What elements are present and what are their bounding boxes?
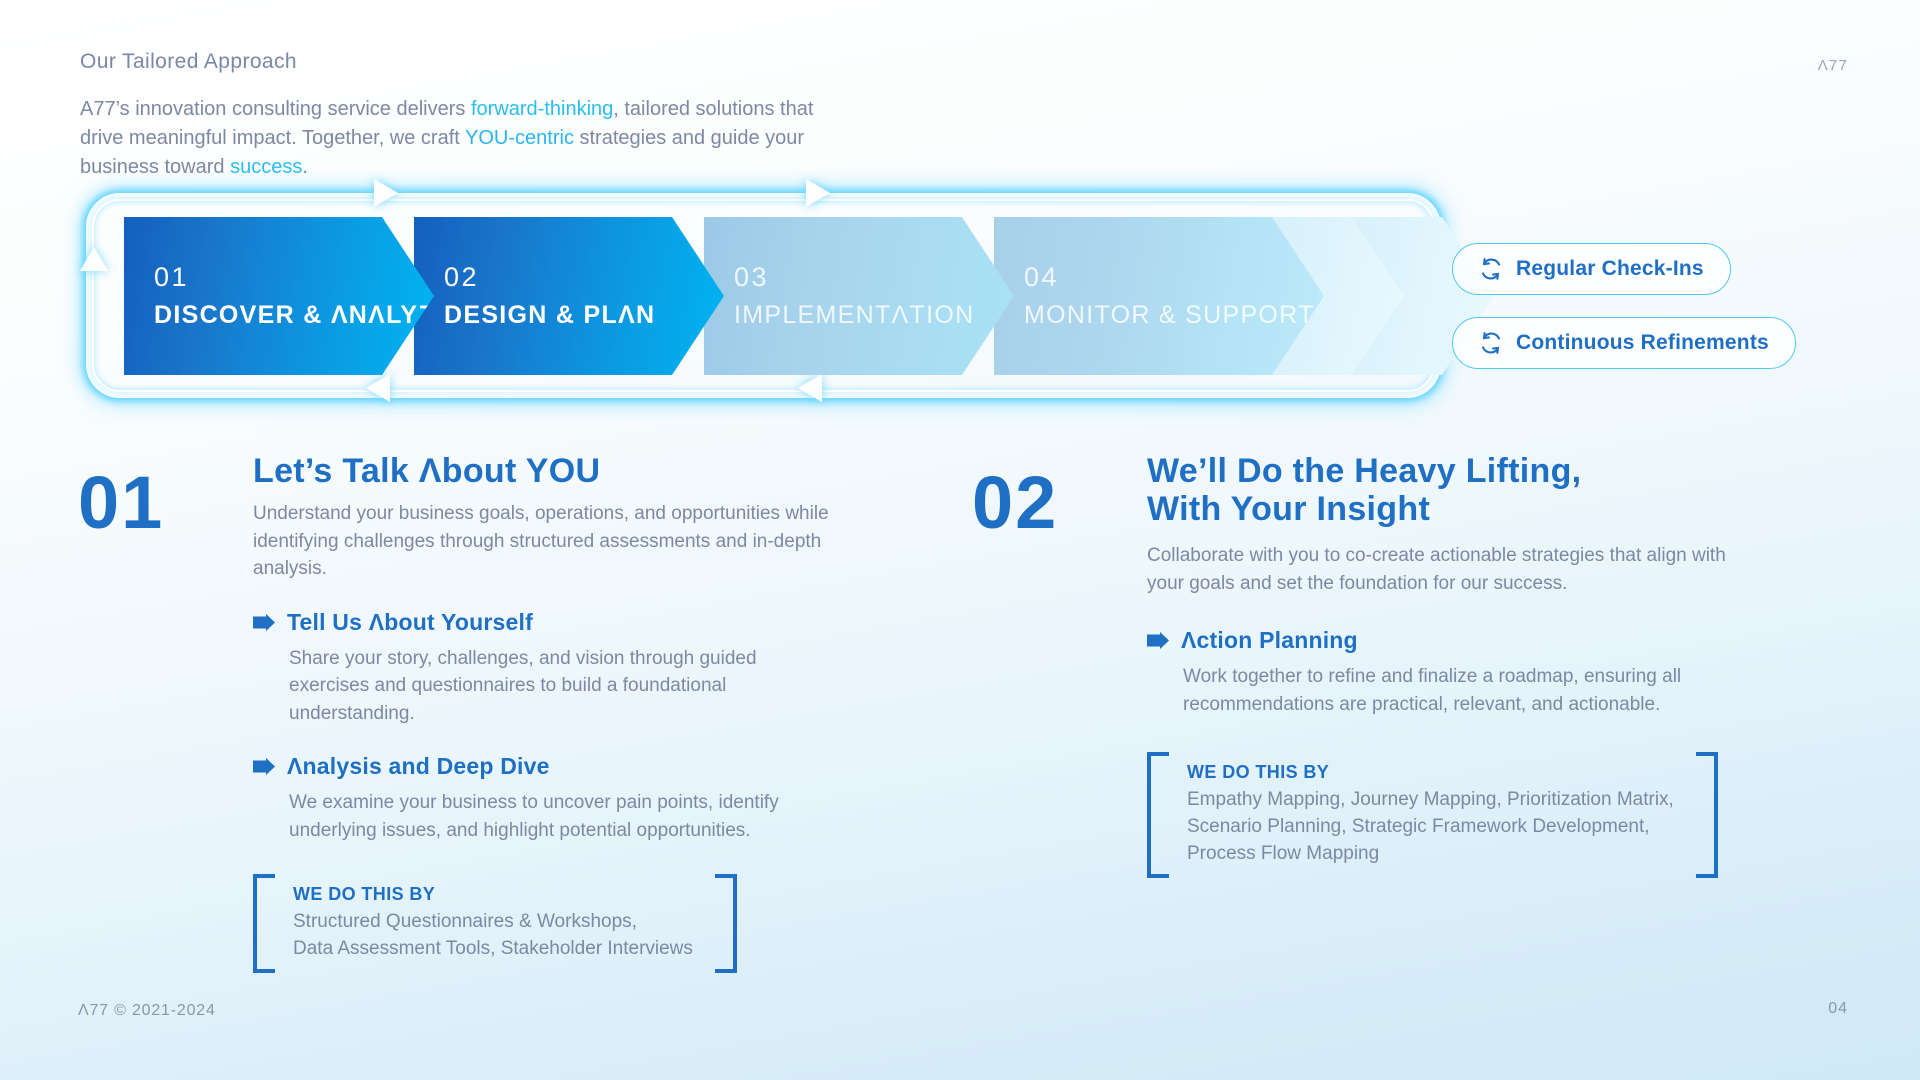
column-01-item-2-title: Λnalysis and Deep Dive: [287, 753, 550, 780]
process-step-04[interactable]: 04 MONITOR & SUPPORT: [994, 217, 1324, 375]
column-01-number: 01: [78, 466, 164, 540]
brand-logo: Λ77: [1818, 57, 1848, 74]
column-02-item-1-title: Λction Planning: [1181, 627, 1358, 654]
bracket-left: [1147, 752, 1169, 878]
column-01-we-do-this-by: WE DO THIS BY Structured Questionnaires …: [253, 874, 737, 973]
badge-regular-check-ins-label: Regular Check-Ins: [1516, 257, 1704, 281]
column-01-item-1-text: Share your story, challenges, and vision…: [289, 645, 838, 728]
column-01-item-2: Λnalysis and Deep Dive We examine your b…: [253, 753, 838, 844]
process-step-03-label: IMPLEMENTΛTION: [734, 301, 1014, 330]
column-02-subtitle: Collaborate with you to co-create action…: [1147, 542, 1732, 597]
triangle-bullet-icon: [1147, 632, 1169, 649]
intro-text-4: .: [302, 156, 308, 178]
column-01-we-do-this-by-title: WE DO THIS BY: [293, 884, 693, 905]
column-02-heading: We’ll Do the Heavy Lifting, With Your In…: [1147, 452, 1732, 528]
loop-arrow-right-top-2: [806, 179, 830, 207]
column-01-item-1-title: Tell Us Λbout Yourself: [287, 609, 533, 636]
column-02-number: 02: [972, 466, 1058, 540]
intro-highlight-success: success: [230, 156, 302, 178]
refresh-cycle-icon: [1479, 331, 1503, 355]
loop-arrow-up-left: [80, 247, 108, 271]
process-diagram: 01 DISCOVER & ΛNΛLYZE 02 DESIGN & PLΛN 0…: [46, 185, 1466, 405]
process-step-04-number: 04: [1024, 262, 1324, 293]
process-step-03-number: 03: [734, 262, 1014, 293]
column-01-item-1: Tell Us Λbout Yourself Share your story,…: [253, 609, 838, 728]
intro-paragraph: A77’s innovation consulting service deli…: [80, 95, 850, 182]
process-step-list: 01 DISCOVER & ΛNΛLYZE 02 DESIGN & PLΛN 0…: [124, 217, 1484, 375]
process-step-01[interactable]: 01 DISCOVER & ΛNΛLYZE: [124, 217, 434, 375]
process-step-01-number: 01: [154, 262, 434, 293]
process-step-02-number: 02: [444, 262, 724, 293]
process-step-04-label: MONITOR & SUPPORT: [1024, 301, 1324, 330]
triangle-bullet-icon: [253, 758, 275, 775]
process-step-02[interactable]: 02 DESIGN & PLΛN: [414, 217, 724, 375]
column-02-item-1-text: Work together to refine and finalize a r…: [1183, 663, 1732, 718]
process-badge-list: Regular Check-Ins Continuous Refinements: [1452, 243, 1796, 391]
column-02-item-1: Λction Planning Work together to refine …: [1147, 627, 1732, 718]
process-step-01-label: DISCOVER & ΛNΛLYZE: [154, 301, 434, 330]
triangle-bullet-icon: [253, 614, 275, 631]
column-02: 02 We’ll Do the Heavy Lifting, With Your…: [972, 452, 1732, 878]
process-step-03[interactable]: 03 IMPLEMENTΛTION: [704, 217, 1014, 375]
column-01-subtitle: Understand your business goals, operatio…: [253, 500, 838, 583]
loop-arrow-left-bottom-1: [366, 374, 390, 402]
column-01-item-2-text: We examine your business to uncover pain…: [289, 789, 838, 844]
column-01: 01 Let’s Talk Λbout YOU Understand your …: [78, 452, 838, 973]
bracket-left: [253, 874, 275, 973]
column-01-we-do-this-by-text: Structured Questionnaires & Workshops, D…: [293, 909, 693, 963]
intro-highlight-forward-thinking: forward-thinking: [471, 98, 613, 120]
badge-continuous-refinements[interactable]: Continuous Refinements: [1452, 317, 1796, 369]
loop-arrow-left-bottom-2: [798, 374, 822, 402]
intro-highlight-you-centric: YOU-centric: [465, 127, 574, 149]
bracket-right: [715, 874, 737, 973]
footer-page-number: 04: [1828, 1000, 1848, 1018]
badge-continuous-refinements-label: Continuous Refinements: [1516, 331, 1769, 355]
loop-arrow-right-top-1: [374, 179, 398, 207]
column-02-we-do-this-by: WE DO THIS BY Empathy Mapping, Journey M…: [1147, 752, 1718, 878]
page-title: Our Tailored Approach: [80, 50, 297, 74]
bracket-right: [1696, 752, 1718, 878]
refresh-cycle-icon: [1479, 257, 1503, 281]
badge-regular-check-ins[interactable]: Regular Check-Ins: [1452, 243, 1731, 295]
footer-copyright: Λ77 © 2021-2024: [78, 1002, 216, 1020]
intro-text-1: A77’s innovation consulting service deli…: [80, 98, 471, 120]
column-02-we-do-this-by-title: WE DO THIS BY: [1187, 762, 1674, 783]
process-step-02-label: DESIGN & PLΛN: [444, 301, 724, 330]
column-01-heading: Let’s Talk Λbout YOU: [253, 452, 838, 490]
column-02-we-do-this-by-text: Empathy Mapping, Journey Mapping, Priori…: [1187, 787, 1674, 868]
